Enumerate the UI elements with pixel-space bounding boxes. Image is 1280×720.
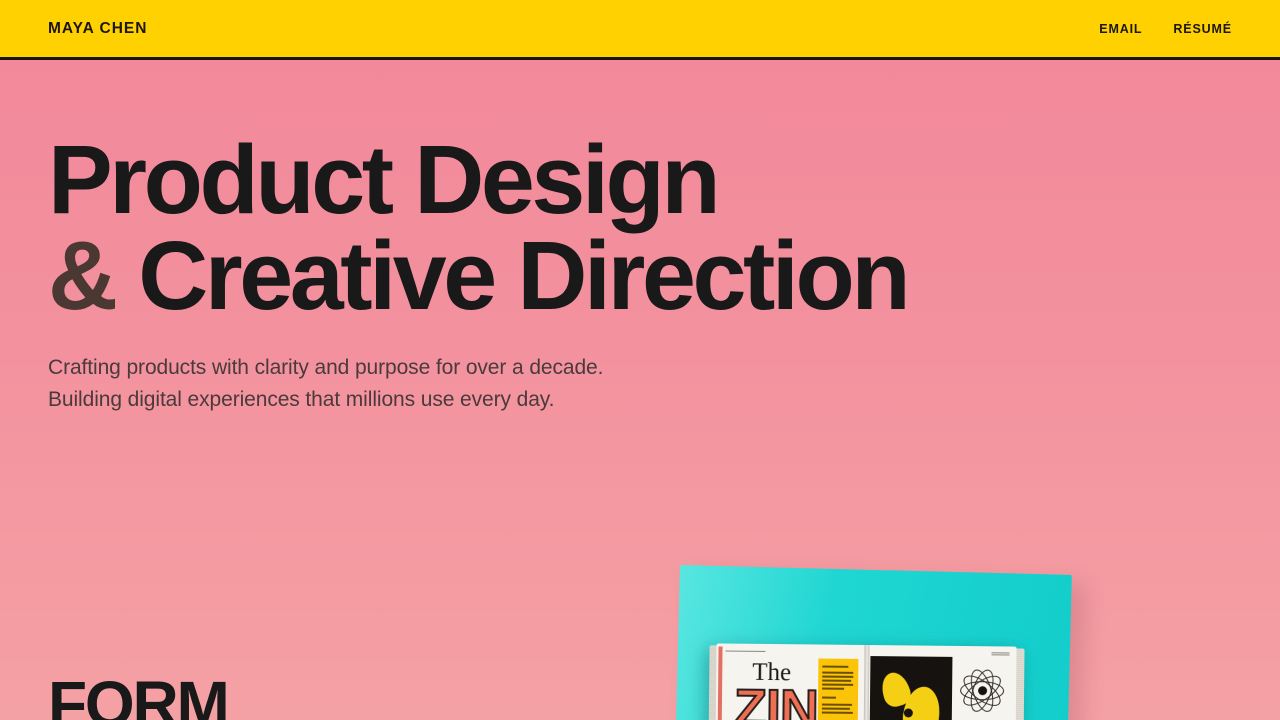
- headline-line-2-text: Creative Direction: [115, 221, 908, 330]
- brand-name[interactable]: MAYA CHEN: [48, 20, 147, 38]
- page-root: MAYA CHEN EMAIL RÉSUMÉ Product Design & …: [0, 0, 1280, 720]
- page-title: Product Design & Creative Direction: [48, 132, 907, 323]
- black-illustration-panel: [869, 656, 952, 720]
- subtitle-line-1: Crafting products with clarity and purpo…: [48, 352, 603, 384]
- headline-line-1: Product Design: [48, 132, 907, 228]
- primary-nav: EMAIL RÉSUMÉ: [1099, 22, 1232, 36]
- page-folio-marks: [991, 652, 1009, 656]
- section-heading-form: FORM: [48, 672, 228, 720]
- atom-nucleus: [978, 686, 987, 695]
- nav-link-email[interactable]: EMAIL: [1099, 22, 1142, 36]
- pear-notch: [904, 708, 913, 717]
- page-masthead-lines: [725, 651, 765, 654]
- ampersand-glyph: &: [48, 221, 115, 330]
- magazine-title-zin: ZIN: [734, 682, 819, 720]
- showcase-image: The ZIN: [680, 565, 1072, 720]
- open-magazine: The ZIN: [715, 643, 1016, 720]
- magazine-right-page: [865, 645, 1016, 720]
- magazine-spine: [863, 645, 869, 720]
- atom-diagram-icon: [958, 666, 1007, 715]
- site-header: MAYA CHEN EMAIL RÉSUMÉ: [0, 0, 1280, 60]
- nav-link-resume[interactable]: RÉSUMÉ: [1173, 22, 1232, 36]
- headline-line-2: & Creative Direction: [48, 228, 907, 324]
- subtitle-line-2: Building digital experiences that millio…: [48, 384, 603, 416]
- magazine-left-page: The ZIN: [715, 643, 866, 720]
- magazine-yellow-sidebar: [817, 658, 858, 720]
- hero-subtitle: Crafting products with clarity and purpo…: [48, 352, 603, 416]
- page-edge-accent: [717, 646, 722, 720]
